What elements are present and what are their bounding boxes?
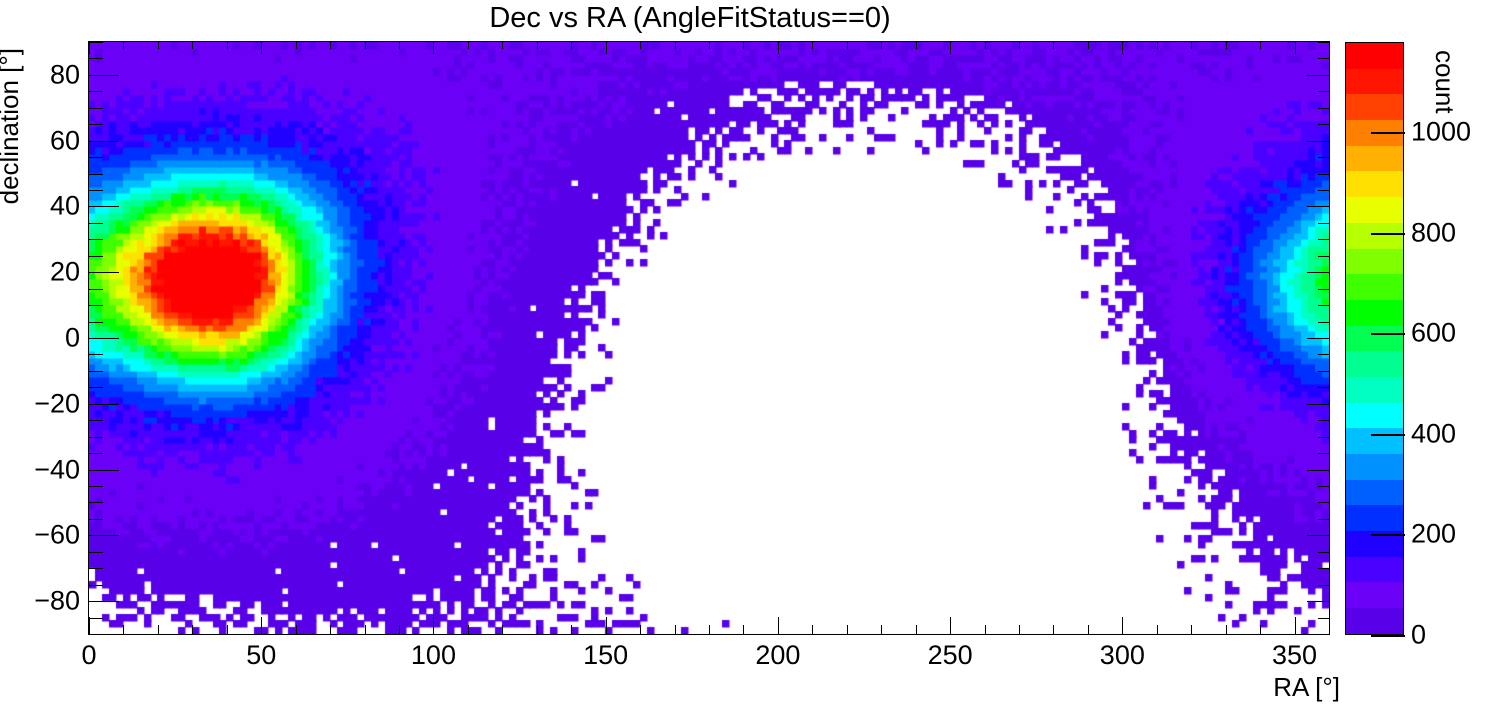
- colorbar-tick: [1371, 434, 1405, 436]
- x-minor-tick: [123, 625, 124, 634]
- x-top-tick: [296, 42, 297, 49]
- x-minor-tick: [571, 625, 572, 634]
- page-title: Dec vs RA (AngleFitStatus==0): [0, 2, 1380, 35]
- y-minor-tick: [89, 124, 103, 125]
- x-top-tick: [778, 42, 779, 54]
- x-top-tick: [950, 42, 951, 54]
- y-tick-label: 20: [50, 257, 80, 288]
- x-tick-label: 350: [1272, 640, 1317, 671]
- colorbar-band: [1346, 351, 1403, 377]
- x-minor-tick: [812, 625, 813, 634]
- y-right-tick: [1307, 535, 1329, 536]
- x-tick-label: 300: [1100, 640, 1145, 671]
- x-minor-tick: [1157, 625, 1158, 634]
- y-tick-label: −60: [34, 520, 80, 551]
- x-top-tick: [812, 42, 813, 49]
- x-major-tick: [261, 617, 262, 634]
- y-right-tick: [1318, 634, 1329, 635]
- y-tick-label: −40: [34, 454, 80, 485]
- x-top-tick: [1226, 42, 1227, 49]
- x-tick-label: 250: [928, 640, 973, 671]
- y-minor-tick: [89, 502, 103, 503]
- x-minor-tick: [365, 625, 366, 634]
- x-minor-tick: [709, 625, 710, 634]
- colorbar-band: [1346, 608, 1403, 634]
- y-right-tick: [1318, 239, 1329, 240]
- y-minor-tick: [89, 437, 103, 438]
- colorbar-band: [1346, 582, 1403, 608]
- plot-canvas: Dec vs RA (AngleFitStatus==0) 0501001502…: [0, 0, 1496, 722]
- y-right-tick: [1318, 437, 1329, 438]
- y-right-tick: [1318, 420, 1329, 421]
- x-top-tick: [468, 42, 469, 49]
- y-major-tick: [89, 404, 119, 405]
- x-top-tick: [399, 42, 400, 49]
- x-top-tick: [881, 42, 882, 49]
- y-minor-tick: [89, 42, 103, 43]
- y-right-tick: [1318, 124, 1329, 125]
- colorbar-title: count: [1429, 50, 1460, 114]
- x-top-tick: [709, 42, 710, 49]
- colorbar-tick-label: 600: [1411, 318, 1456, 349]
- colorbar-band: [1346, 326, 1403, 352]
- y-right-tick: [1307, 206, 1329, 207]
- x-minor-tick: [227, 625, 228, 634]
- y-right-tick: [1318, 157, 1329, 158]
- y-minor-tick: [89, 289, 103, 290]
- x-top-tick: [1088, 42, 1089, 49]
- y-right-tick: [1307, 470, 1329, 471]
- colorbar-band: [1346, 454, 1403, 480]
- y-major-tick: [89, 141, 119, 142]
- y-minor-tick: [89, 322, 103, 323]
- x-top-tick: [192, 42, 193, 49]
- x-top-tick: [365, 42, 366, 49]
- y-right-tick: [1318, 58, 1329, 59]
- colorbar-tick-label: 800: [1411, 217, 1456, 248]
- colorbar-band: [1346, 505, 1403, 531]
- colorbar-band: [1346, 557, 1403, 583]
- y-minor-tick: [89, 420, 103, 421]
- colorbar-band: [1346, 377, 1403, 403]
- x-major-tick: [606, 617, 607, 634]
- y-right-tick: [1318, 453, 1329, 454]
- colorbar-band: [1346, 171, 1403, 197]
- y-right-tick: [1307, 272, 1329, 273]
- y-minor-tick: [89, 371, 103, 372]
- y-right-tick: [1318, 568, 1329, 569]
- x-top-tick: [675, 42, 676, 49]
- y-tick-label: 40: [50, 191, 80, 222]
- y-right-tick: [1307, 601, 1329, 602]
- colorbar: [1345, 42, 1404, 635]
- y-right-tick: [1307, 141, 1329, 142]
- colorbar-tick-label: 200: [1411, 519, 1456, 550]
- y-right-tick: [1318, 486, 1329, 487]
- x-axis-title: RA [°]: [1273, 672, 1340, 703]
- x-minor-tick: [1260, 625, 1261, 634]
- x-minor-tick: [1088, 625, 1089, 634]
- y-tick-label: −20: [34, 388, 80, 419]
- plot-frame: [88, 41, 1330, 635]
- y-major-tick: [89, 470, 119, 471]
- y-right-tick: [1318, 190, 1329, 191]
- y-minor-tick: [89, 108, 103, 109]
- x-top-tick: [537, 42, 538, 49]
- colorbar-band: [1346, 480, 1403, 506]
- y-minor-tick: [89, 174, 103, 175]
- y-right-tick: [1318, 91, 1329, 92]
- colorbar-band: [1346, 428, 1403, 454]
- y-minor-tick: [89, 585, 103, 586]
- x-minor-tick: [640, 625, 641, 634]
- x-tick-label: 200: [755, 640, 800, 671]
- x-minor-tick: [502, 625, 503, 634]
- x-top-tick: [158, 42, 159, 49]
- colorbar-band: [1346, 69, 1403, 95]
- x-top-tick: [916, 42, 917, 49]
- x-tick-label: 150: [583, 640, 628, 671]
- x-top-tick: [330, 42, 331, 49]
- y-tick-label: 80: [50, 59, 80, 90]
- x-top-tick: [502, 42, 503, 49]
- x-minor-tick: [1329, 625, 1330, 634]
- y-minor-tick: [89, 486, 103, 487]
- y-axis-title: declination [°]: [0, 48, 25, 204]
- x-minor-tick: [399, 625, 400, 634]
- colorbar-tick: [1371, 233, 1405, 235]
- histogram-image: [89, 42, 1329, 634]
- y-minor-tick: [89, 58, 103, 59]
- x-top-tick: [261, 42, 262, 54]
- x-top-tick: [123, 42, 124, 49]
- y-tick-label: 0: [65, 323, 80, 354]
- y-right-tick: [1318, 42, 1329, 43]
- y-minor-tick: [89, 453, 103, 454]
- x-minor-tick: [1053, 625, 1054, 634]
- colorbar-tick: [1371, 132, 1405, 134]
- x-minor-tick: [468, 625, 469, 634]
- colorbar-band: [1346, 223, 1403, 249]
- colorbar-tick: [1371, 635, 1405, 637]
- y-minor-tick: [89, 305, 103, 306]
- x-top-tick: [571, 42, 572, 49]
- x-minor-tick: [743, 625, 744, 634]
- x-minor-tick: [192, 625, 193, 634]
- colorbar-tick-label: 1000: [1411, 117, 1471, 148]
- x-top-tick: [847, 42, 848, 49]
- x-minor-tick: [675, 625, 676, 634]
- y-major-tick: [89, 75, 119, 76]
- y-right-tick: [1318, 223, 1329, 224]
- y-minor-tick: [89, 387, 103, 388]
- x-minor-tick: [158, 625, 159, 634]
- y-major-tick: [89, 601, 119, 602]
- y-right-tick: [1318, 585, 1329, 586]
- y-right-tick: [1318, 108, 1329, 109]
- y-right-tick: [1318, 552, 1329, 553]
- x-major-tick: [950, 617, 951, 634]
- x-top-tick: [743, 42, 744, 49]
- x-minor-tick: [296, 625, 297, 634]
- y-major-tick: [89, 206, 119, 207]
- colorbar-band: [1346, 146, 1403, 172]
- y-right-tick: [1307, 75, 1329, 76]
- colorbar-band: [1346, 249, 1403, 275]
- x-top-tick: [1122, 42, 1123, 54]
- colorbar-band: [1346, 43, 1403, 69]
- x-major-tick: [778, 617, 779, 634]
- x-top-tick: [1019, 42, 1020, 49]
- x-top-tick: [1053, 42, 1054, 49]
- y-minor-tick: [89, 618, 103, 619]
- x-top-tick: [227, 42, 228, 49]
- y-minor-tick: [89, 91, 103, 92]
- y-right-tick: [1318, 322, 1329, 323]
- x-top-tick: [1329, 42, 1330, 49]
- colorbar-band: [1346, 274, 1403, 300]
- y-right-tick: [1318, 519, 1329, 520]
- y-major-tick: [89, 535, 119, 536]
- y-tick-label: 60: [50, 125, 80, 156]
- x-minor-tick: [537, 625, 538, 634]
- y-right-tick: [1307, 404, 1329, 405]
- colorbar-tick: [1371, 333, 1405, 335]
- y-minor-tick: [89, 190, 103, 191]
- x-minor-tick: [916, 625, 917, 634]
- y-minor-tick: [89, 223, 103, 224]
- y-tick-label: −80: [34, 586, 80, 617]
- colorbar-band: [1346, 197, 1403, 223]
- y-right-tick: [1307, 338, 1329, 339]
- y-right-tick: [1318, 354, 1329, 355]
- x-major-tick: [433, 617, 434, 634]
- y-right-tick: [1318, 174, 1329, 175]
- x-major-tick: [1295, 617, 1296, 634]
- x-minor-tick: [881, 625, 882, 634]
- x-minor-tick: [1019, 625, 1020, 634]
- y-major-tick: [89, 272, 119, 273]
- x-top-tick: [640, 42, 641, 49]
- y-right-tick: [1318, 618, 1329, 619]
- y-right-tick: [1318, 305, 1329, 306]
- colorbar-tick: [1371, 534, 1405, 536]
- colorbar-band: [1346, 94, 1403, 120]
- x-major-tick: [89, 617, 90, 634]
- y-minor-tick: [89, 354, 103, 355]
- x-minor-tick: [847, 625, 848, 634]
- y-minor-tick: [89, 568, 103, 569]
- x-top-tick: [1157, 42, 1158, 49]
- colorbar-band: [1346, 403, 1403, 429]
- y-right-tick: [1318, 289, 1329, 290]
- colorbar-band: [1346, 300, 1403, 326]
- x-minor-tick: [985, 625, 986, 634]
- x-minor-tick: [1226, 625, 1227, 634]
- x-tick-label: 100: [411, 640, 456, 671]
- y-minor-tick: [89, 256, 103, 257]
- y-minor-tick: [89, 519, 103, 520]
- x-top-tick: [1191, 42, 1192, 49]
- y-major-tick: [89, 338, 119, 339]
- y-minor-tick: [89, 157, 103, 158]
- x-top-tick: [1260, 42, 1261, 49]
- x-top-tick: [1295, 42, 1296, 54]
- y-minor-tick: [89, 634, 103, 635]
- y-minor-tick: [89, 552, 103, 553]
- x-top-tick: [433, 42, 434, 54]
- x-top-tick: [985, 42, 986, 49]
- x-tick-label: 0: [81, 640, 96, 671]
- x-major-tick: [1122, 617, 1123, 634]
- colorbar-tick-label: 0: [1411, 620, 1426, 651]
- colorbar-tick-label: 400: [1411, 418, 1456, 449]
- y-right-tick: [1318, 502, 1329, 503]
- y-minor-tick: [89, 239, 103, 240]
- x-tick-label: 50: [246, 640, 276, 671]
- x-minor-tick: [330, 625, 331, 634]
- x-minor-tick: [1191, 625, 1192, 634]
- y-right-tick: [1318, 387, 1329, 388]
- x-top-tick: [606, 42, 607, 54]
- x-top-tick: [89, 42, 90, 54]
- y-right-tick: [1318, 256, 1329, 257]
- y-right-tick: [1318, 371, 1329, 372]
